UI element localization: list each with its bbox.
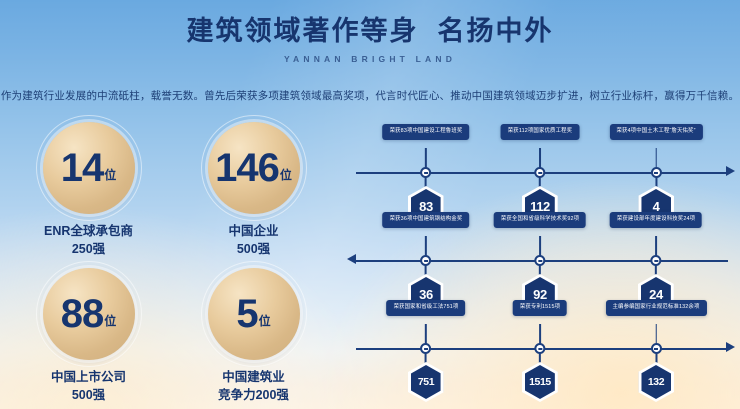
award-hex-badge: 751 — [408, 362, 444, 402]
arrow-right-icon — [726, 342, 735, 352]
timeline-item[interactable]: 荣获36项中国建筑钢结构金奖 36 — [383, 212, 470, 228]
timeline-item[interactable]: 荣获4项中国土木工程“詹天佑奖” 4 — [609, 124, 702, 140]
award-count: 751 — [411, 365, 441, 399]
award-chip: 荣获83项中国建设工程鲁班奖 — [383, 124, 470, 140]
arrow-left-icon — [347, 254, 356, 264]
stat-label-line1: 中国企业 — [228, 223, 278, 241]
stat-label-line1: 中国建筑业 — [218, 369, 289, 387]
timeline-row: 荣获国家和省级工法751项 751 荣获专利1515项 1515 主编参编国家行… — [348, 300, 734, 388]
timeline-item[interactable]: 荣获83项中国建设工程鲁班奖 83 — [383, 124, 470, 140]
stat-card: 88 位 中国上市公司 500强 — [6, 268, 171, 409]
timeline-item[interactable]: 荣获专利1515项 1515 — [513, 300, 567, 316]
stat-value: 14 — [61, 150, 104, 187]
award-hex-badge: 132 — [638, 362, 674, 402]
stat-card: 14 位 ENR全球承包商 250强 — [6, 122, 171, 268]
stat-label-line1: 中国上市公司 — [51, 369, 126, 387]
stat-label: 中国上市公司 500强 — [51, 369, 126, 405]
stat-value: 5 — [236, 296, 257, 333]
awards-timeline: 荣获83项中国建设工程鲁班奖 83 荣获112项国家优质工程奖 112 荣获4项… — [348, 124, 734, 396]
page-title: 建筑领域著作等身 名扬中外 — [0, 14, 740, 49]
stat-label: 中国企业 500强 — [228, 223, 278, 259]
stat-label-line2: 250强 — [44, 241, 133, 259]
timeline-row: 荣获83项中国建设工程鲁班奖 83 荣获112项国家优质工程奖 112 荣获4项… — [348, 124, 734, 212]
award-chip: 荣获4项中国土木工程“詹天佑奖” — [609, 124, 702, 140]
stat-label-line2: 500强 — [51, 387, 126, 405]
stat-label: ENR全球承包商 250强 — [44, 223, 133, 259]
stat-value: 88 — [61, 296, 104, 333]
award-chip: 主编参编国家行业规范标准132余项 — [605, 300, 706, 316]
award-chip: 荣获112项国家优质工程奖 — [501, 124, 579, 140]
stat-label-line2: 500强 — [228, 241, 278, 259]
stat-unit: 位 — [259, 312, 271, 332]
page-header: 建筑领域著作等身 名扬中外 YANNAN BRIGHT LAND — [0, 14, 740, 64]
stat-card: 5 位 中国建筑业 竞争力200强 — [171, 268, 336, 409]
timeline-item[interactable]: 荣获全国和省级科学技术奖92项 92 — [494, 212, 586, 228]
arrow-right-icon — [726, 166, 735, 176]
timeline-item[interactable]: 主编参编国家行业规范标准132余项 132 — [605, 300, 706, 316]
timeline-item[interactable]: 荣获112项国家优质工程奖 112 — [501, 124, 579, 140]
award-chip: 荣获36项中国建筑钢结构金奖 — [383, 212, 470, 228]
stat-unit: 位 — [104, 312, 116, 332]
lead-paragraph: 作为建筑行业发展的中流砥柱，载誉无数。曾先后荣获多项建筑领域最高奖项，代言时代匠… — [0, 88, 740, 103]
stat-unit: 位 — [280, 166, 292, 186]
award-chip: 荣获全国和省级科学技术奖92项 — [494, 212, 586, 228]
timeline-item[interactable]: 荣获建设部年度建设科技奖24项 24 — [610, 212, 702, 228]
stat-label-line1: ENR全球承包商 — [44, 223, 133, 241]
stat-medal: 14 位 — [43, 122, 135, 214]
timeline-item[interactable]: 荣获国家和省级工法751项 751 — [387, 300, 466, 316]
stat-unit: 位 — [104, 166, 116, 186]
stats-grid: 14 位 ENR全球承包商 250强 146 位 中国企业 500强 88 位 — [6, 122, 336, 409]
timeline-row: 荣获36项中国建筑钢结构金奖 36 荣获全国和省级科学技术奖92项 92 荣获建… — [348, 212, 734, 300]
stat-medal: 88 位 — [43, 268, 135, 360]
stat-label: 中国建筑业 竞争力200强 — [218, 369, 289, 405]
award-count: 1515 — [525, 365, 555, 399]
stat-medal: 146 位 — [208, 122, 300, 214]
award-chip: 荣获建设部年度建设科技奖24项 — [610, 212, 702, 228]
award-count: 132 — [641, 365, 671, 399]
stat-label-line2: 竞争力200强 — [218, 387, 289, 405]
award-chip: 荣获专利1515项 — [513, 300, 567, 316]
stat-medal: 5 位 — [208, 268, 300, 360]
award-hex-badge: 1515 — [522, 362, 558, 402]
stat-value: 146 — [215, 150, 279, 187]
page-subtitle: YANNAN BRIGHT LAND — [0, 54, 740, 64]
stat-card: 146 位 中国企业 500强 — [171, 122, 336, 268]
award-chip: 荣获国家和省级工法751项 — [387, 300, 466, 316]
